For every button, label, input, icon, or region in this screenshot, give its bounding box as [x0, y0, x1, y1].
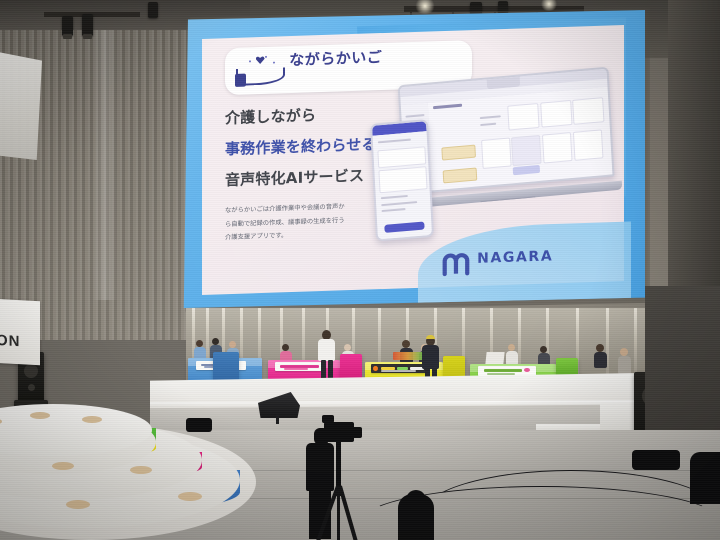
- phone-line: [381, 195, 408, 199]
- brand-title: ながらかいご: [290, 46, 468, 86]
- schedule-chip: [441, 144, 476, 160]
- participant-head: [596, 344, 604, 352]
- nagara-n-mark-icon: [441, 252, 473, 277]
- spotlight-1: [62, 16, 73, 36]
- sparkle-1: [249, 61, 251, 63]
- participant-body: [618, 356, 631, 374]
- headline-line-3: 音声特化AIサービス: [225, 165, 364, 191]
- presenter-cap: [426, 335, 435, 339]
- spotlight-2-lens: [83, 34, 92, 39]
- foil-strip: [606, 308, 609, 380]
- presenter-torso: [422, 345, 439, 369]
- grid-cell: [573, 130, 604, 161]
- booth-magenta-sign-text: [284, 368, 308, 370]
- participant-head: [344, 344, 351, 351]
- projection-screen: ながらかいご 介護しながら 事務作業を終わらせる 音声特化AIサービス ながらか…: [181, 10, 645, 308]
- hand-heart-icon: [235, 54, 284, 87]
- left-wall-sign-text: ON: [0, 332, 21, 350]
- slide-inner-layout: ながらかいご 介護しながら 事務作業を終わらせる 音声特化AIサービス ながらか…: [213, 30, 612, 291]
- participant-head: [282, 344, 289, 351]
- grid-cell: [511, 135, 542, 166]
- sidebar-line: [405, 114, 424, 118]
- participant-head: [402, 340, 410, 348]
- tripod-leg-center: [337, 486, 340, 540]
- platform-inlay: [178, 492, 202, 501]
- platform-inlay: [130, 466, 152, 474]
- booth-green-sign-text: [487, 373, 515, 375]
- participant-head: [620, 348, 628, 356]
- foreground-crew-silhouette: [690, 452, 720, 504]
- booth-laptop-prop: [485, 352, 504, 364]
- metric-card: [540, 100, 572, 128]
- presenter-torso: [318, 339, 335, 361]
- metric-card: [508, 103, 540, 131]
- phone-line: [382, 201, 418, 206]
- conference-stage-photo: ながらかいご 介護しながら 事務作業を終わらせる 音声特化AIサービス ながらか…: [0, 0, 720, 540]
- platform-inlay: [82, 416, 102, 423]
- participant-head: [212, 338, 219, 345]
- platform-inlay: [52, 462, 74, 470]
- nagara-logo: NAGARA: [441, 246, 601, 278]
- participant-head: [540, 346, 547, 353]
- participant-head: [229, 341, 236, 348]
- spotlight-2: [82, 14, 93, 36]
- sparkle-3: [265, 56, 267, 58]
- tripod-leg-right: [338, 485, 358, 540]
- hand-cuff: [235, 73, 246, 86]
- highlight-chip: [513, 165, 540, 175]
- grid-cell: [481, 138, 512, 169]
- grid-cell: [542, 132, 573, 163]
- booth-prop-items: [393, 352, 423, 360]
- content-line: [480, 122, 496, 125]
- foil-strip: [634, 308, 637, 380]
- headline-line-2: 事務作業を終わらせる: [225, 133, 377, 159]
- platform-inlay: [66, 500, 90, 509]
- booth-yellow-sign-icon: [373, 366, 378, 372]
- headline-line-1: 介護しながら: [225, 104, 316, 128]
- foreground-person-head: [406, 490, 426, 510]
- booth-green-sign-icon: [524, 368, 530, 372]
- sparkle-2: [274, 61, 276, 63]
- participant-body: [594, 352, 607, 368]
- laptop-main-content: [428, 87, 613, 191]
- phone-line: [382, 208, 406, 212]
- right-wall-panel: [668, 0, 720, 300]
- slide-content: ながらかいご 介護しながら 事務作業を終わらせる 音声特化AIサービス ながらか…: [181, 10, 645, 308]
- content-line: [479, 116, 501, 120]
- broadcast-camera-operator: [300, 412, 374, 540]
- participant-head: [196, 340, 203, 347]
- schedule-chip: [442, 167, 477, 183]
- booth-green-sign-text: [484, 369, 522, 372]
- speaker-cone: [24, 364, 38, 378]
- left-wall-sign: ON: [0, 299, 40, 365]
- participant-body: [506, 351, 518, 365]
- video-camera-lens: [350, 427, 362, 438]
- stage-curtain-left: [0, 0, 196, 340]
- video-camera-viewfinder: [322, 415, 334, 423]
- phone-mockup: [370, 119, 434, 241]
- booth-green-sign: [478, 366, 536, 376]
- booth-yellow-sign-text: [381, 370, 416, 372]
- spotlight-3: [148, 2, 158, 18]
- heart-shape: [256, 56, 265, 64]
- stage-left-boxes: [186, 418, 212, 432]
- metric-card: [572, 97, 604, 125]
- spotlight-1-lens: [63, 34, 72, 39]
- platform-inlay: [30, 412, 50, 419]
- phone-line: [378, 139, 410, 144]
- participant-head: [508, 344, 515, 351]
- camera-operator-body: [306, 443, 334, 491]
- phone-card: [378, 146, 426, 169]
- phone-card: [379, 167, 427, 194]
- foreground-gear-bag: [632, 450, 680, 470]
- laptop-trackpad-notch: [481, 196, 536, 201]
- booth-yellow-sign: [371, 364, 427, 373]
- curtain-highlight: [92, 0, 118, 300]
- nagara-wordmark: NAGARA: [478, 247, 601, 276]
- content-heading-line: [433, 104, 462, 110]
- speaker-tweeter: [28, 384, 35, 391]
- hanging-white-cloth: [0, 52, 42, 160]
- wedge-stand: [276, 414, 279, 424]
